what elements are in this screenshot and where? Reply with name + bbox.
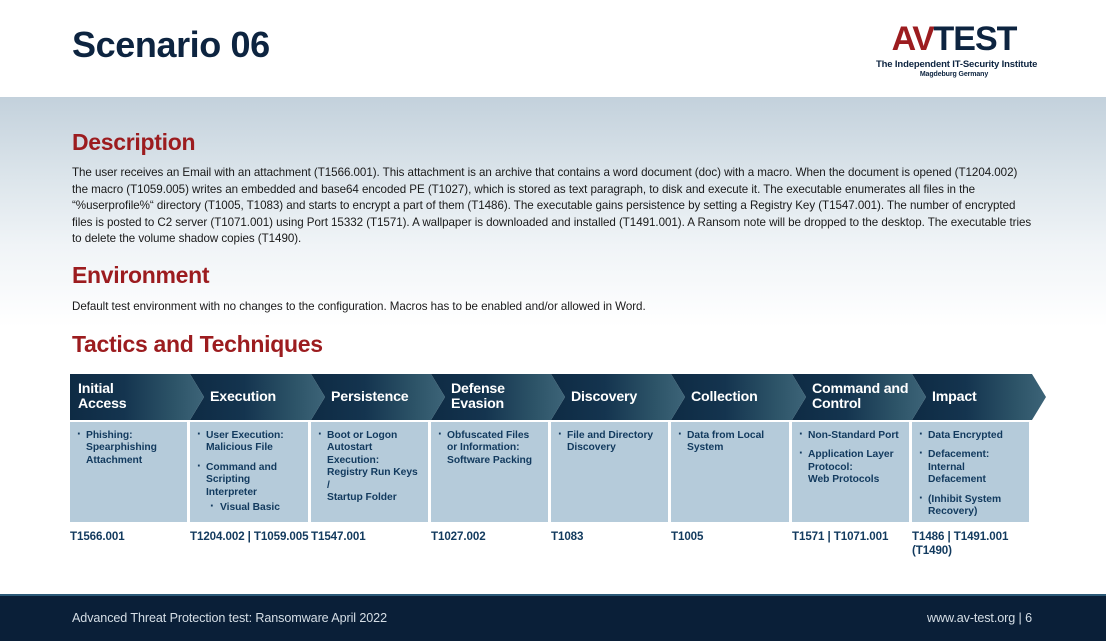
technique-cells-row: Phishing: Spearphishing AttachmentUser E… — [70, 422, 1032, 522]
technique-item: Boot or Logon Autostart Execution: Regis… — [317, 430, 421, 504]
technique-list: Boot or Logon Autostart Execution: Regis… — [317, 430, 421, 504]
technique-list: Non-Standard PortApplication Layer Proto… — [798, 430, 902, 487]
tactic-chevron-label: Persistence — [311, 390, 414, 405]
technique-item: Visual Basic — [196, 502, 301, 514]
tactics-matrix: Initial AccessExecutionPersistenceDefens… — [70, 374, 1032, 564]
technique-list: Data from Local System — [677, 430, 782, 455]
logo-wordmark: AVTEST — [876, 22, 1032, 56]
tactic-chevron-label: Command and Control — [792, 382, 914, 412]
footer-test-name: Advanced Threat Protection test: Ransomw… — [72, 611, 387, 625]
technique-cell: User Execution: Malicious FileCommand an… — [190, 422, 308, 522]
technique-item: File and Directory Discovery — [557, 430, 661, 455]
logo-test-text: TEST — [934, 20, 1017, 58]
logo-tagline: The Independent IT-Security Institute — [876, 59, 1032, 70]
technique-list: Obfuscated Files or Information: Softwar… — [437, 430, 541, 467]
technique-item: Command and Scripting Interpreter — [196, 462, 301, 499]
environment-text: Default test environment with no changes… — [72, 299, 1034, 316]
technique-list: Phishing: Spearphishing Attachment — [76, 430, 180, 467]
technique-item: Data Encrypted — [918, 430, 1022, 442]
technique-cell: Obfuscated Files or Information: Softwar… — [431, 422, 548, 522]
technique-item: Phishing: Spearphishing Attachment — [76, 430, 180, 467]
slide: Scenario 06 AVTEST The Independent IT-Se… — [0, 0, 1106, 641]
tactic-chevron[interactable]: Command and Control — [792, 374, 926, 420]
technique-cell: Boot or Logon Autostart Execution: Regis… — [311, 422, 428, 522]
technique-cell: Data from Local System — [671, 422, 789, 522]
technique-list: File and Directory Discovery — [557, 430, 661, 455]
slide-header: Scenario 06 AVTEST The Independent IT-Se… — [0, 0, 1106, 97]
technique-item: Defacement: Internal Defacement — [918, 449, 1022, 486]
technique-list: Data EncryptedDefacement: Internal Defac… — [918, 430, 1022, 518]
tactic-chevron[interactable]: Defense Evasion — [431, 374, 565, 420]
tactic-chevron[interactable]: Initial Access — [70, 374, 204, 420]
tactic-chevron[interactable]: Collection — [671, 374, 806, 420]
avtest-logo: AVTEST The Independent IT-Security Insti… — [876, 22, 1032, 78]
logo-city: Magdeburg Germany — [876, 71, 1032, 78]
tactic-chevron-row: Initial AccessExecutionPersistenceDefens… — [70, 374, 1032, 420]
technique-ids-row: T1566.001T1204.002 | T1059.005T1547.001T… — [70, 530, 1032, 570]
technique-item: Data from Local System — [677, 430, 782, 455]
technique-list: User Execution: Malicious FileCommand an… — [196, 430, 301, 514]
tactic-chevron[interactable]: Execution — [190, 374, 325, 420]
tactic-chevron[interactable]: Impact — [912, 374, 1046, 420]
tactic-chevron[interactable]: Persistence — [311, 374, 445, 420]
tactics-techniques-heading: Tactics and Techniques — [72, 333, 323, 356]
technique-item: Non-Standard Port — [798, 430, 902, 442]
environment-heading: Environment — [72, 264, 209, 287]
tactic-chevron[interactable]: Discovery — [551, 374, 685, 420]
technique-id: T1486 | T1491.001 (T1490) — [912, 530, 1072, 558]
technique-cell: File and Directory Discovery — [551, 422, 668, 522]
description-heading: Description — [72, 131, 195, 154]
slide-footer: Advanced Threat Protection test: Ransomw… — [0, 594, 1106, 641]
technique-item: User Execution: Malicious File — [196, 430, 301, 455]
technique-item: (Inhibit System Recovery) — [918, 494, 1022, 519]
footer-url-and-page: www.av-test.org | 6 — [927, 611, 1032, 625]
description-text: The user receives an Email with an attac… — [72, 165, 1034, 248]
technique-item: Application Layer Protocol: Web Protocol… — [798, 449, 902, 486]
logo-av-text: AV — [892, 20, 934, 58]
technique-cell: Data EncryptedDefacement: Internal Defac… — [912, 422, 1029, 522]
page-title: Scenario 06 — [72, 27, 270, 63]
technique-item: Obfuscated Files or Information: Softwar… — [437, 430, 541, 467]
technique-cell: Phishing: Spearphishing Attachment — [70, 422, 187, 522]
technique-cell: Non-Standard PortApplication Layer Proto… — [792, 422, 909, 522]
tactic-chevron-label: Initial Access — [70, 382, 133, 412]
